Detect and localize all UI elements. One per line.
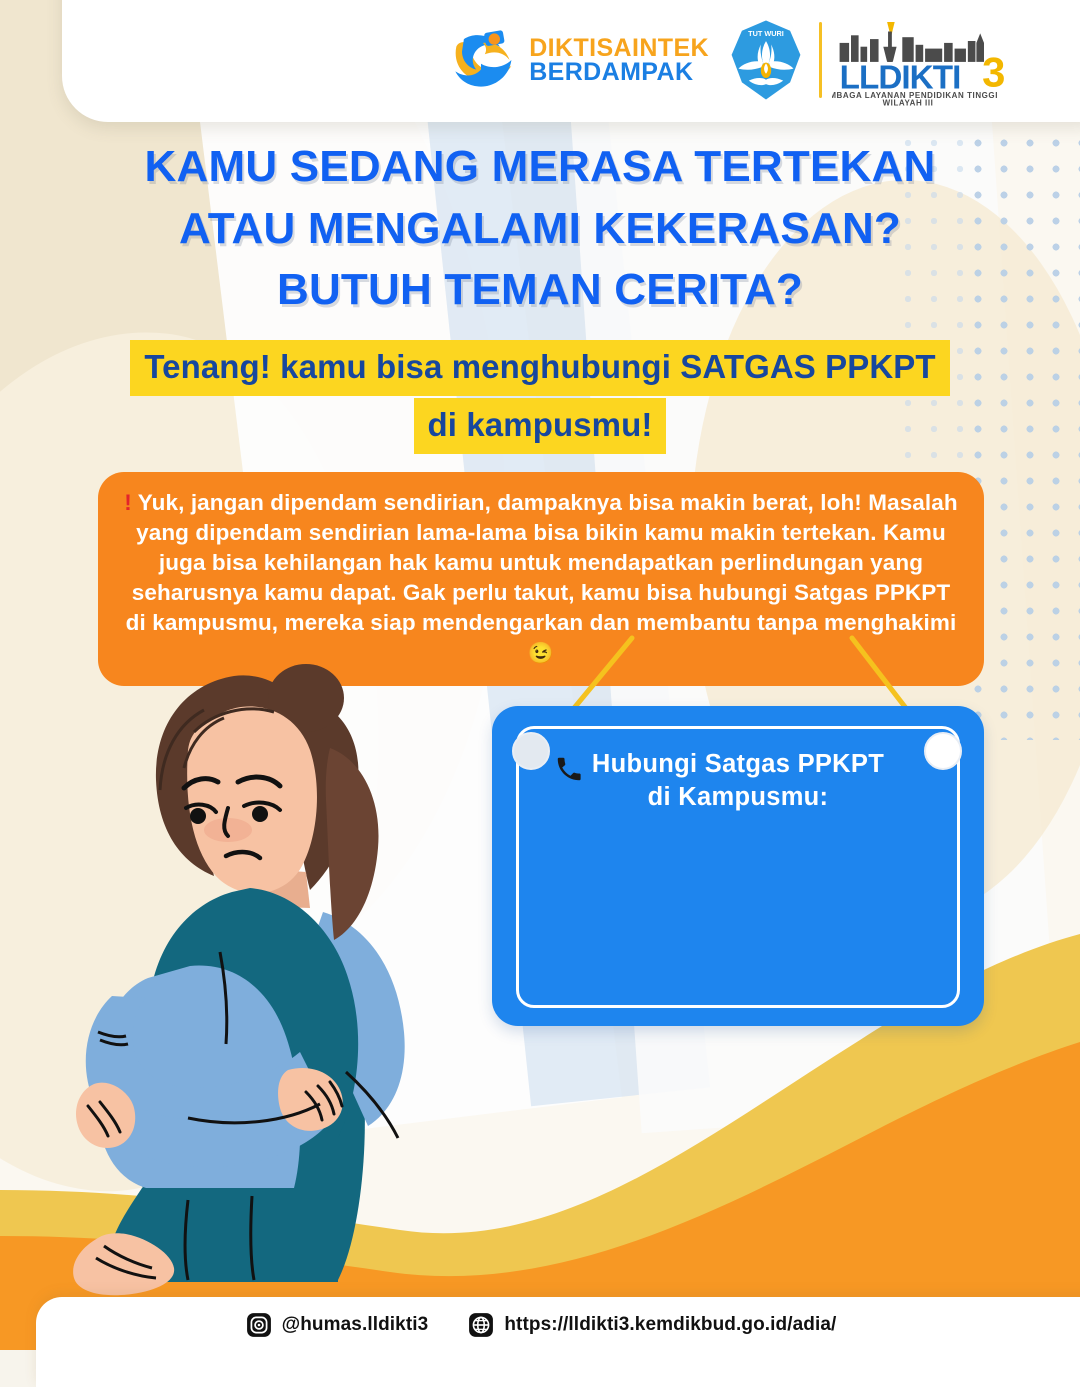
lldikti-number: 3 bbox=[982, 49, 1005, 96]
hair-ponytail bbox=[326, 748, 379, 940]
contact-card-title-line-1: Hubungi Satgas PPKPT bbox=[492, 748, 984, 781]
warning-message-body: Yuk, jangan dipendam sendirian, dampakny… bbox=[126, 490, 958, 635]
instagram-handle: @humas.lldikti3 bbox=[282, 1314, 429, 1336]
website-contact[interactable]: https://lldikti3.kemdikbud.go.id/adia/ bbox=[468, 1312, 836, 1338]
page-title: KAMU SEDANG MERASA TERTEKAN ATAU MENGALA… bbox=[0, 136, 1080, 321]
contact-card-title: Hubungi Satgas PPKPT di Kampusmu: bbox=[492, 748, 984, 813]
skyline-icon bbox=[840, 22, 984, 62]
eye-left bbox=[190, 808, 206, 824]
diktisaintek-wordmark: DIKTISAINTEK BERDAMPAK bbox=[529, 36, 709, 85]
contact-card-title-line-2: di Kampusmu: bbox=[492, 781, 984, 814]
lldikti3-logo: LLDIKTI 3 LEMBAGA LAYANAN PENDIDIKAN TIN… bbox=[832, 14, 1022, 106]
cheek-blush bbox=[204, 818, 252, 842]
footer-contacts: @humas.lldikti3 https://lldikti3.kemdikb… bbox=[36, 1297, 1046, 1353]
globe-icon bbox=[468, 1312, 494, 1338]
contact-card[interactable]: Hubungi Satgas PPKPT di Kampusmu: bbox=[492, 706, 984, 1026]
instagram-icon bbox=[246, 1312, 272, 1338]
lldikti-tagline2: WILAYAH III bbox=[883, 99, 934, 106]
diktisaintek-berdampak-logo: DIKTISAINTEK BERDAMPAK bbox=[443, 21, 709, 99]
eye-right bbox=[252, 806, 268, 822]
headline-line-3: BUTUH TEMAN CERITA? bbox=[0, 259, 1080, 321]
lldikti3-mark: LLDIKTI 3 LEMBAGA LAYANAN PENDIDIKAN TIN… bbox=[832, 14, 1022, 106]
logo-row: DIKTISAINTEK BERDAMPAK TUT WURI bbox=[62, 8, 1080, 112]
subheadline: Tenang! kamu bisa menghubungi SATGAS PPK… bbox=[0, 340, 1080, 456]
logo-divider bbox=[819, 22, 822, 98]
diktisaintek-line1: DIKTISAINTEK bbox=[529, 36, 709, 60]
exclamation-icon: ! bbox=[124, 490, 132, 515]
tut-wuri-motto: TUT WURI bbox=[748, 29, 784, 38]
subheadline-line-1: Tenang! kamu bisa menghubungi SATGAS PPK… bbox=[130, 340, 949, 396]
website-url: https://lldikti3.kemdikbud.go.id/adia/ bbox=[504, 1314, 836, 1336]
tut-wuri-handayani-logo: TUT WURI bbox=[723, 17, 809, 103]
instagram-contact[interactable]: @humas.lldikti3 bbox=[246, 1312, 429, 1338]
headline-line-1: KAMU SEDANG MERASA TERTEKAN bbox=[0, 136, 1080, 198]
diktisaintek-line2: BERDAMPAK bbox=[529, 60, 709, 84]
headline-line-2: ATAU MENGALAMI KEKERASAN? bbox=[0, 198, 1080, 260]
subheadline-line-2: di kampusmu! bbox=[414, 398, 667, 454]
diktisaintek-mark-icon bbox=[443, 21, 519, 99]
illustration-sad-woman bbox=[38, 640, 478, 1300]
